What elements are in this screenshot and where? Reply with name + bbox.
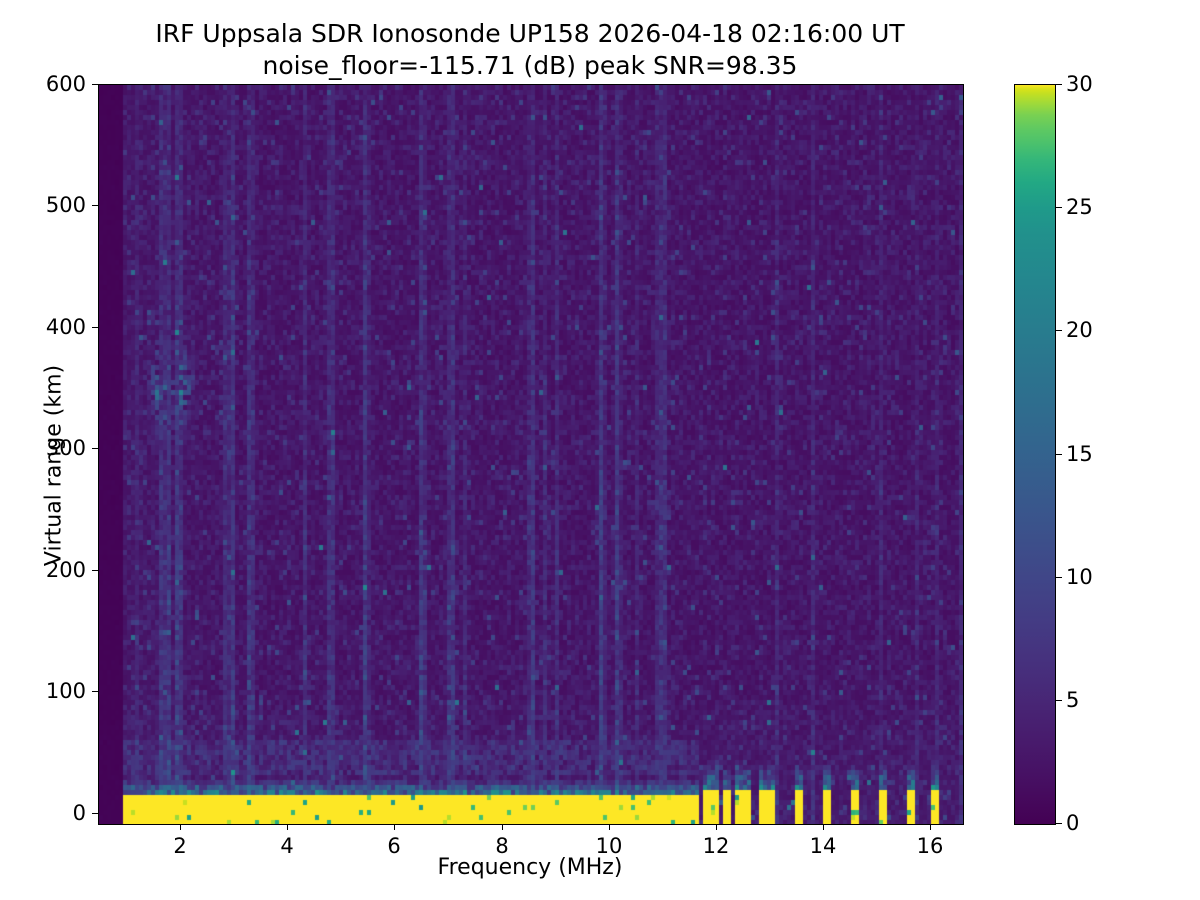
ytick-label-0: 0 xyxy=(0,801,86,825)
cbtick-label-15: 15 xyxy=(1066,442,1093,466)
title-line-2: noise_floor=-115.71 (dB) peak SNR=98.35 xyxy=(0,50,1060,82)
cbtick-mark-30 xyxy=(1056,84,1062,85)
cbtick-label-5: 5 xyxy=(1066,688,1079,712)
ionogram-heatmap xyxy=(99,85,963,824)
cbtick-mark-20 xyxy=(1056,330,1062,331)
cbtick-mark-25 xyxy=(1056,207,1062,208)
ionogram-figure: IRF Uppsala SDR Ionosonde UP158 2026-04-… xyxy=(0,0,1200,900)
cbtick-mark-5 xyxy=(1056,700,1062,701)
cbtick-mark-15 xyxy=(1056,454,1062,455)
ytick-label-600: 600 xyxy=(0,72,86,96)
cbtick-label-0: 0 xyxy=(1066,811,1079,835)
ytick-label-100: 100 xyxy=(0,679,86,703)
cbtick-label-20: 20 xyxy=(1066,318,1093,342)
ionogram-plot-area[interactable] xyxy=(98,84,964,825)
ytick-label-500: 500 xyxy=(0,193,86,217)
x-axis-label: Frequency (MHz) xyxy=(98,855,962,880)
cbtick-mark-10 xyxy=(1056,577,1062,578)
title-line-1: IRF Uppsala SDR Ionosonde UP158 2026-04-… xyxy=(0,18,1060,50)
cbtick-label-30: 30 xyxy=(1066,72,1093,96)
y-axis-label: Virtual range (km) xyxy=(42,316,67,616)
cbtick-mark-0 xyxy=(1056,823,1062,824)
cbtick-label-10: 10 xyxy=(1066,565,1093,589)
cbtick-label-25: 25 xyxy=(1066,195,1093,219)
figure-title: IRF Uppsala SDR Ionosonde UP158 2026-04-… xyxy=(0,18,1060,82)
snr-colorbar[interactable] xyxy=(1014,84,1056,825)
